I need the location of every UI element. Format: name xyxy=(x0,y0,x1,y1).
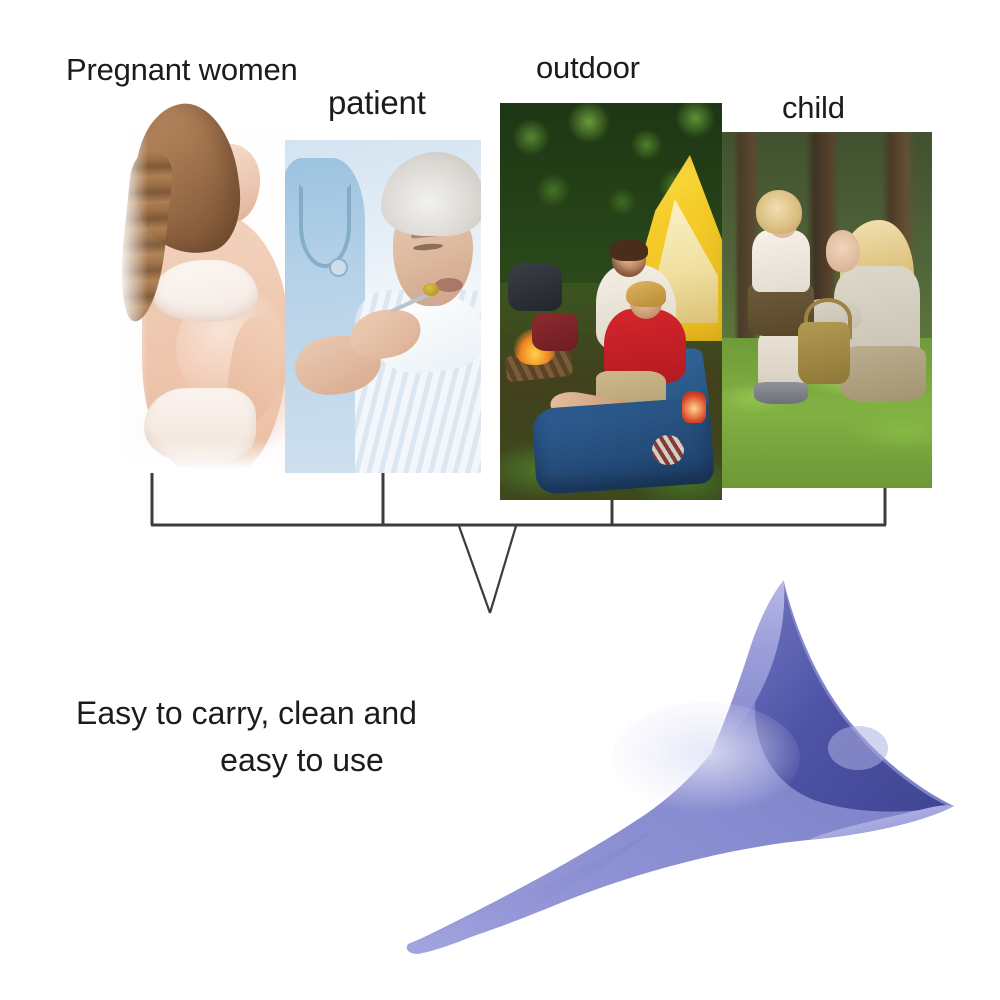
spoon-bowl-shape xyxy=(423,283,439,296)
child-hair-shape xyxy=(756,190,802,234)
child-boots-shape xyxy=(754,382,808,404)
use-case-photo-outdoor xyxy=(500,103,722,500)
stethoscope-bell-shape xyxy=(329,258,348,277)
use-case-photo-patient xyxy=(285,140,481,473)
basket-shape xyxy=(798,322,850,384)
use-case-label-child: child xyxy=(782,90,845,126)
pregnant-bra-shape xyxy=(154,260,258,322)
patient-mouth-shape xyxy=(435,278,463,292)
use-case-photo-child xyxy=(722,132,932,488)
product-infographic: Pregnant women patient outdoor child xyxy=(0,0,1000,1000)
backpack-shape xyxy=(508,263,562,311)
photo-left-fade xyxy=(118,92,148,473)
caption-line-2: easy to use xyxy=(76,737,528,784)
red-gear-bag-shape xyxy=(532,313,578,351)
caption-line-1: Easy to carry, clean and xyxy=(76,690,528,737)
camp-lantern-shape xyxy=(682,391,706,423)
funnel-gloss-highlight xyxy=(612,702,800,814)
use-case-label-patient: patient xyxy=(328,84,426,122)
child-top-shape xyxy=(752,230,810,292)
stethoscope-shape xyxy=(299,184,351,268)
use-case-label-pregnant: Pregnant women xyxy=(66,52,298,88)
product-caption: Easy to carry, clean and easy to use xyxy=(76,690,528,785)
mother-face-shape xyxy=(826,230,860,272)
mother-legs-shape xyxy=(840,346,926,402)
camper-woman-hair-shape xyxy=(626,281,666,307)
use-case-photo-pregnant xyxy=(118,92,300,473)
funnel-inner-glint xyxy=(828,726,888,770)
use-case-label-outdoor: outdoor xyxy=(536,50,640,86)
camper-man-hair-shape xyxy=(610,239,648,261)
